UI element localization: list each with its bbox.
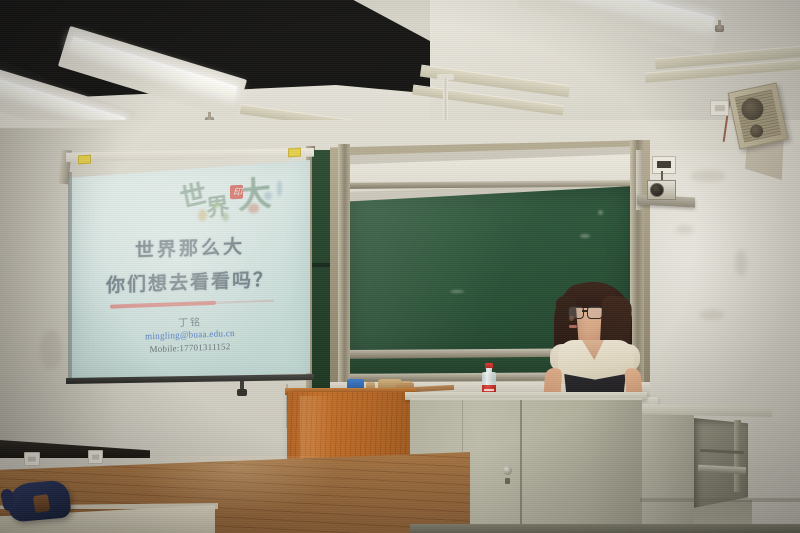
chalk-residue	[598, 210, 603, 215]
wall-outlet	[88, 450, 103, 464]
camera-lens-icon	[650, 183, 664, 197]
wall-smudge	[735, 250, 747, 276]
wall-floor-junction	[640, 498, 800, 502]
chalk-residue	[450, 290, 464, 293]
presenter	[538, 278, 650, 408]
screen-pull-knob[interactable]	[237, 389, 247, 396]
chalk-residue	[580, 234, 590, 238]
chalkboard-divider-post	[338, 144, 350, 384]
wall-switch[interactable]	[652, 156, 676, 174]
wall-outlet	[710, 100, 729, 116]
presenter-nose	[569, 316, 574, 321]
counter-inner-post	[734, 420, 741, 492]
warning-sticker	[288, 148, 301, 158]
backpack-patch	[33, 494, 50, 513]
screen-left-edge	[68, 172, 72, 380]
cabinet-door-seam	[520, 400, 522, 533]
lecture-hall-photo: 世 界 大 印 世界那么大 你们想去看看吗？ 丁铭 mingling@buaa.…	[0, 0, 800, 533]
floor-right-strip	[410, 524, 800, 533]
wall-smudge	[700, 310, 724, 320]
wall-smudge	[676, 225, 694, 234]
wall-smudge	[40, 330, 62, 370]
screen-glow	[70, 160, 310, 382]
wall-outlet	[24, 452, 40, 466]
cabinet-handle[interactable]	[503, 466, 512, 475]
counter-front-panel	[642, 414, 694, 533]
warning-sticker	[78, 155, 91, 165]
wall-smudge	[690, 170, 726, 182]
presenter-lips	[569, 325, 577, 328]
cabinet-lock-icon[interactable]	[505, 478, 510, 484]
sprinkler-icon	[715, 20, 724, 33]
